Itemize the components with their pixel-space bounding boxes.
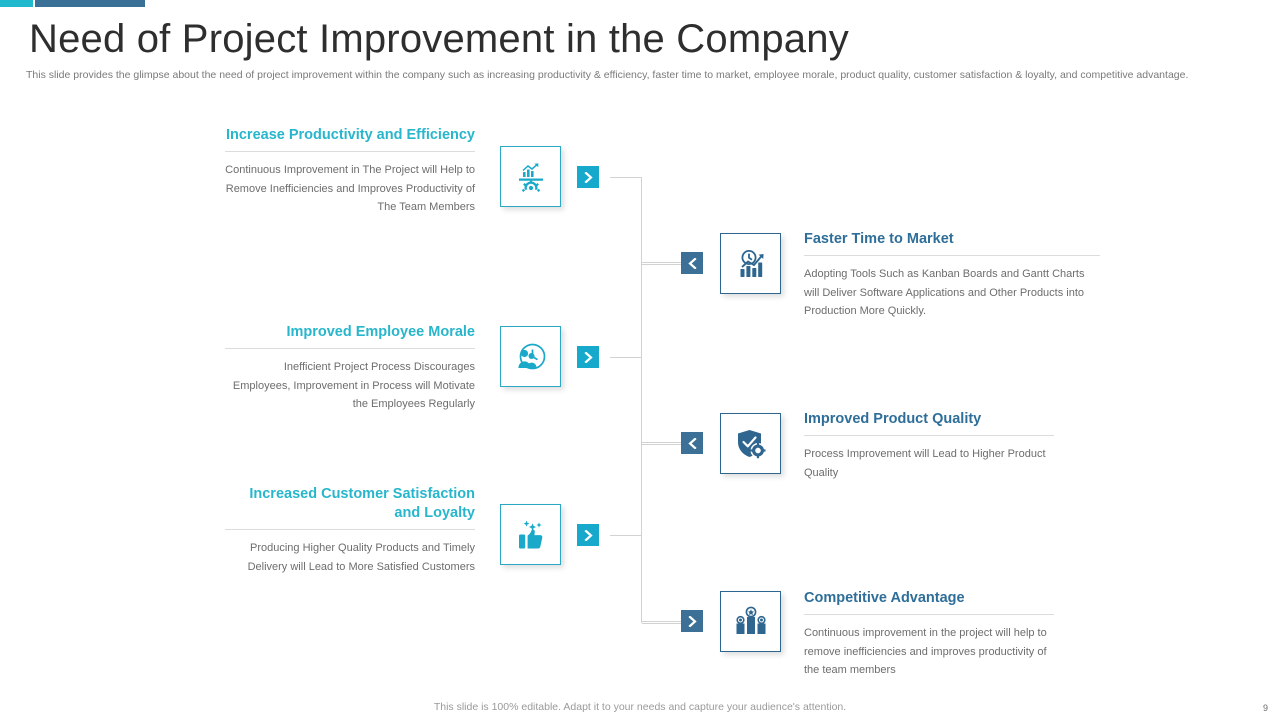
page-subtitle: This slide provides the glimpse about th… <box>26 68 1238 83</box>
footer-note: This slide is 100% editable. Adapt it to… <box>0 701 1280 713</box>
connector-branch-3 <box>610 357 642 358</box>
podium-star-icon <box>734 605 768 639</box>
chevron-left-icon-1[interactable] <box>681 252 703 274</box>
icon-tile-competitive-advantage[interactable] <box>720 591 781 652</box>
chart-gear-icon <box>514 160 548 194</box>
left-block-1-heading: Increase Productivity and Efficiency <box>225 126 475 151</box>
icon-tile-employee-morale[interactable] <box>500 326 561 387</box>
right-block-1-body: Adopting Tools Such as Kanban Boards and… <box>804 256 1100 321</box>
icon-tile-increase-productivity[interactable] <box>500 146 561 207</box>
chevron-left-icon-2[interactable] <box>681 432 703 454</box>
left-block-3-body: Producing Higher Quality Products and Ti… <box>225 530 475 576</box>
clock-growth-icon <box>734 247 768 281</box>
connector-spine <box>641 177 642 623</box>
left-block-2-body: Inefficient Project Process Discourages … <box>225 349 475 414</box>
left-block-2: Improved Employee Morale Inefficient Pro… <box>225 323 475 414</box>
people-clock-icon <box>514 340 548 374</box>
right-block-3-heading: Competitive Advantage <box>804 589 1054 614</box>
right-block-1-heading: Faster Time to Market <box>804 230 1100 255</box>
right-block-1: Faster Time to Market Adopting Tools Suc… <box>804 230 1100 321</box>
right-block-2-body: Process Improvement will Lead to Higher … <box>804 436 1054 482</box>
thumbs-up-stars-icon <box>514 518 548 552</box>
shield-check-gear-icon <box>734 427 768 461</box>
page-title: Need of Project Improvement in the Compa… <box>29 17 849 62</box>
chevron-right-icon-3[interactable] <box>577 524 599 546</box>
connector-branch-1 <box>610 177 642 178</box>
icon-tile-product-quality[interactable] <box>720 413 781 474</box>
left-block-2-heading: Improved Employee Morale <box>225 323 475 348</box>
chevron-right-icon-1[interactable] <box>577 166 599 188</box>
chevron-right-icon-4[interactable] <box>681 610 703 632</box>
left-block-1: Increase Productivity and Efficiency Con… <box>225 126 475 217</box>
left-block-3: Increased Customer Satisfaction and Loya… <box>225 485 475 576</box>
connector-branch-5 <box>610 535 642 536</box>
left-block-1-body: Continuous Improvement in The Project wi… <box>225 152 475 217</box>
accent-bar-cyan <box>0 0 33 7</box>
icon-tile-customer-satisfaction[interactable] <box>500 504 561 565</box>
chevron-right-icon-2[interactable] <box>577 346 599 368</box>
right-block-2-heading: Improved Product Quality <box>804 410 1054 435</box>
slide-canvas: Need of Project Improvement in the Compa… <box>0 0 1280 720</box>
right-block-2: Improved Product Quality Process Improve… <box>804 410 1054 482</box>
left-block-3-heading: Increased Customer Satisfaction and Loya… <box>225 485 475 529</box>
right-block-3-body: Continuous improvement in the project wi… <box>804 615 1054 680</box>
right-block-3: Competitive Advantage Continuous improve… <box>804 589 1054 680</box>
accent-bar-blue <box>35 0 145 7</box>
icon-tile-faster-time-to-market[interactable] <box>720 233 781 294</box>
page-number: 9 <box>1263 703 1268 713</box>
